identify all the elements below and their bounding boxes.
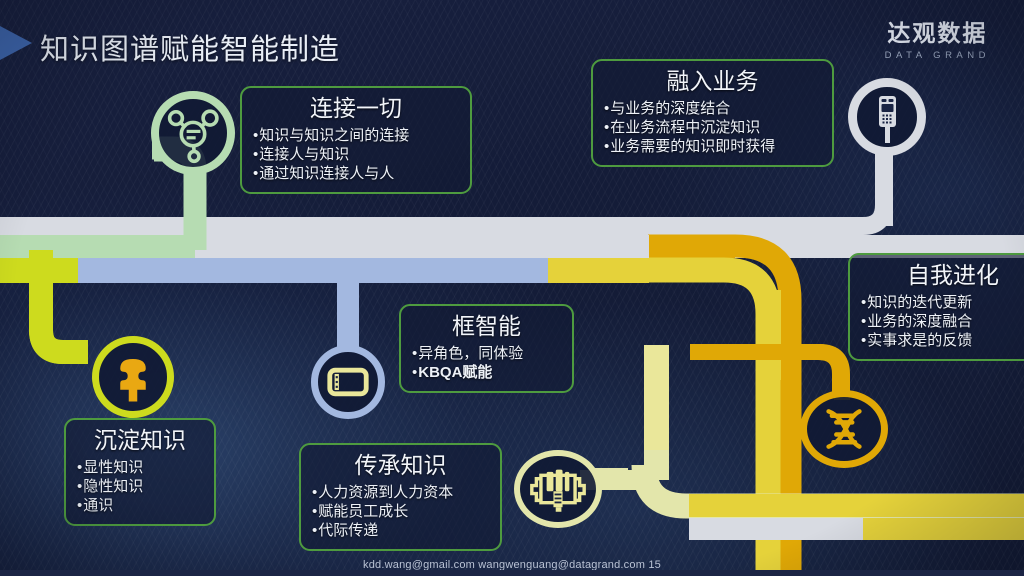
logo-english: DATA GRAND	[885, 50, 990, 61]
card-box-intelligence[interactable]: 框智能 异角色，同体验 KBQA赋能	[399, 304, 574, 393]
card-precipitate-knowledge[interactable]: 沉淀知识 显性知识 隐性知识 通识	[64, 418, 216, 526]
badge-handheld-device[interactable]	[848, 78, 926, 156]
logo-chinese: 达观数据	[885, 22, 990, 45]
card-self-evolution[interactable]: 自我进化 知识的迭代更新 业务的深度融合 实事求是的反馈	[848, 253, 1024, 361]
dna-helix-icon	[807, 397, 881, 461]
network-nodes-icon	[159, 99, 227, 167]
bullet-item: 人力资源到人力资本	[312, 483, 489, 502]
bullet-item: 代际传递	[312, 521, 489, 540]
search-box-icon	[318, 352, 378, 412]
bullet-item: 显性知识	[77, 458, 203, 477]
bullet-item: 通过知识连接人与人	[253, 164, 459, 183]
slide-canvas: 知识图谱赋能智能制造 达观数据 DATA GRAND	[0, 0, 1024, 576]
bullet-item: 隐性知识	[77, 477, 203, 496]
bullet-item: 与业务的深度结合	[604, 99, 821, 118]
badge-network-nodes[interactable]	[151, 91, 235, 175]
bottom-bar	[0, 570, 1024, 576]
badge-search-box[interactable]	[311, 345, 385, 419]
badge-gear-machine[interactable]	[514, 450, 602, 528]
card-title: 融入业务	[604, 67, 821, 96]
gear-machine-icon	[520, 456, 596, 522]
card-inherit-knowledge[interactable]: 传承知识 人力资源到人力资本 赋能员工成长 代际传递	[299, 443, 502, 551]
card-title: 沉淀知识	[77, 426, 203, 455]
card-title: 传承知识	[312, 451, 489, 480]
bullet-item: 异角色，同体验	[412, 344, 561, 363]
card-bullets: 知识的迭代更新 业务的深度融合 实事求是的反馈	[861, 293, 1024, 351]
card-integrate-business[interactable]: 融入业务 与业务的深度结合 在业务流程中沉淀知识 业务需要的知识即时获得	[591, 59, 834, 167]
handheld-device-icon	[857, 87, 917, 147]
card-bullets: 与业务的深度结合 在业务流程中沉淀知识 业务需要的知识即时获得	[604, 99, 821, 157]
card-title: 框智能	[412, 312, 561, 341]
bullet-item: 业务需要的知识即时获得	[604, 137, 821, 156]
bullet-item: 业务的深度融合	[861, 312, 1024, 331]
title-arrow-icon	[0, 26, 32, 60]
card-connect-everything[interactable]: 连接一切 知识与知识之间的连接 连接人与知识 通过知识连接人与人	[240, 86, 472, 194]
bullet-item: 在业务流程中沉淀知识	[604, 118, 821, 137]
bullet-item: 知识的迭代更新	[861, 293, 1024, 312]
card-title: 连接一切	[253, 94, 459, 123]
bullet-item: 通识	[77, 496, 203, 515]
bullet-item: 赋能员工成长	[312, 502, 489, 521]
card-bullets: 知识与知识之间的连接 连接人与知识 通过知识连接人与人	[253, 126, 459, 184]
brand-logo: 达观数据 DATA GRAND	[885, 22, 990, 61]
bullet-item: 实事求是的反馈	[861, 331, 1024, 350]
puzzle-person-icon	[99, 343, 167, 411]
badge-dna-helix[interactable]	[800, 390, 888, 468]
card-bullets: 人力资源到人力资本 赋能员工成长 代际传递	[312, 483, 489, 541]
card-bullets: 显性知识 隐性知识 通识	[77, 458, 203, 516]
bullet-text: KBQA赋能	[418, 364, 492, 381]
page-title: 知识图谱赋能智能制造	[40, 26, 340, 68]
bullet-item: 知识与知识之间的连接	[253, 126, 459, 145]
card-title: 自我进化	[861, 261, 1024, 290]
badge-puzzle-person[interactable]	[92, 336, 174, 418]
bullet-item: KBQA赋能	[412, 363, 561, 382]
card-bullets: 异角色，同体验 KBQA赋能	[412, 344, 561, 382]
bullet-item: 连接人与知识	[253, 145, 459, 164]
